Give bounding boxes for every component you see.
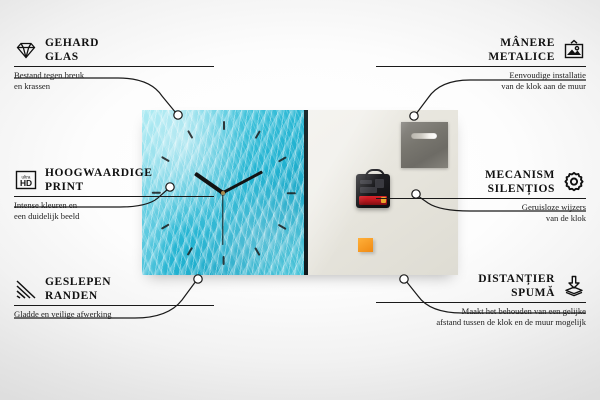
clock-tick [278,223,287,229]
feature-divider [14,196,214,197]
clock-tick [187,247,193,256]
clock-tick [161,156,170,162]
feature-desc-line1: Eenvoudige installatie [376,70,586,81]
feature-desc-line2: een duidelijk beeld [14,211,214,222]
feature-geslepen-randen[interactable]: GESLEPEN RANDEN Gladde en veilige afwerk… [14,275,214,320]
feature-title: HOOGWAARDIGE PRINT [45,166,153,194]
feature-title: MECANISM SILENȚIOS [485,168,555,196]
feature-divider [376,66,586,67]
feature-desc-line2: en krassen [14,81,214,92]
feature-divider [376,198,586,199]
feature-title: DISTANȚIER SPUMĂ [478,272,555,300]
clock-center-pivot [221,191,225,195]
feature-title: MÂNERE METALICE [488,36,555,64]
clock-tick [287,192,296,194]
gear-icon [562,170,586,194]
feature-header: DISTANȚIER SPUMĂ [376,272,586,300]
clock-tick [187,130,193,139]
clock-tick [161,223,170,229]
clock-tick [223,121,225,130]
feature-divider [376,302,586,303]
metal-hanger-plate [401,122,448,168]
clock-tick [223,256,225,265]
feature-title-line2: SPUMĂ [478,286,555,300]
feature-mecanism-silentios[interactable]: MECANISM SILENȚIOS Geruisloze wijzers va… [376,168,586,224]
hanger-slot [411,133,437,139]
feature-title-line2: PRINT [45,180,153,194]
feature-header: GESLEPEN RANDEN [14,275,214,303]
feature-desc-line1: Maakt het behouden van een gelijke [376,306,586,317]
clock-tick [255,247,261,256]
feature-description: Eenvoudige installatie van de klok aan d… [376,70,586,92]
feature-title-line2: RANDEN [45,289,111,303]
diamond-icon [14,38,38,62]
foam-spacer [358,238,373,252]
beveled-edges-icon [14,277,38,301]
feature-title-line1: GEHARD [45,36,99,50]
feature-header: ultra HD HOOGWAARDIGE PRINT [14,166,214,194]
feature-description: Bestand tegen breuk en krassen [14,70,214,92]
feature-header: GEHARD GLAS [14,36,214,64]
clock-tick [278,156,287,162]
feature-gehard-glas[interactable]: GEHARD GLAS Bestand tegen breuk en krass… [14,36,214,92]
feature-description: Gladde en veilige afwerking [14,309,214,320]
feature-title-line1: DISTANȚIER [478,272,555,286]
ultra-hd-icon: ultra HD [14,168,38,192]
feature-title-line1: GESLEPEN [45,275,111,289]
feature-desc-line1: Bestand tegen breuk [14,70,214,81]
infographic-stage: GEHARD GLAS Bestand tegen breuk en krass… [0,0,600,400]
feature-desc-line1: Geruisloze wijzers [376,202,586,213]
feature-hoogwaardige-print[interactable]: ultra HD HOOGWAARDIGE PRINT Intense kleu… [14,166,214,222]
feature-desc-line2: van de klok [376,213,586,224]
feature-title-line2: GLAS [45,50,99,64]
feature-description: Intense kleuren en een duidelijk beeld [14,200,214,222]
framed-picture-icon [562,38,586,62]
feature-desc-line1: Gladde en veilige afwerking [14,309,214,320]
feature-desc-line2: afstand tussen de klok en de muur mogeli… [376,317,586,328]
feature-distantier-spuma[interactable]: DISTANȚIER SPUMĂ Maakt het behouden van … [376,272,586,328]
feature-desc-line2: van de klok aan de muur [376,81,586,92]
spacer-arrow-icon [562,274,586,298]
feature-title-line2: SILENȚIOS [485,182,555,196]
feature-manere-metalice[interactable]: MÂNERE METALICE Eenvoudige installatie v… [376,36,586,92]
feature-desc-line1: Intense kleuren en [14,200,214,211]
feature-header: MECANISM SILENȚIOS [376,168,586,196]
svg-text:HD: HD [20,178,32,188]
feature-title-line1: MÂNERE [488,36,555,50]
feature-description: Geruisloze wijzers van de klok [376,202,586,224]
feature-divider [14,305,214,306]
feature-divider [14,66,214,67]
feature-title: GESLEPEN RANDEN [45,275,111,303]
clock-tick [255,130,261,139]
feature-title: GEHARD GLAS [45,36,99,64]
feature-header: MÂNERE METALICE [376,36,586,64]
feature-title-line2: METALICE [488,50,555,64]
feature-title-line1: MECANISM [485,168,555,182]
feature-title-line1: HOOGWAARDIGE [45,166,153,180]
clock-minute-hand [222,170,263,194]
clock-second-hand [222,193,223,245]
feature-description: Maakt het behouden van een gelijke afsta… [376,306,586,328]
